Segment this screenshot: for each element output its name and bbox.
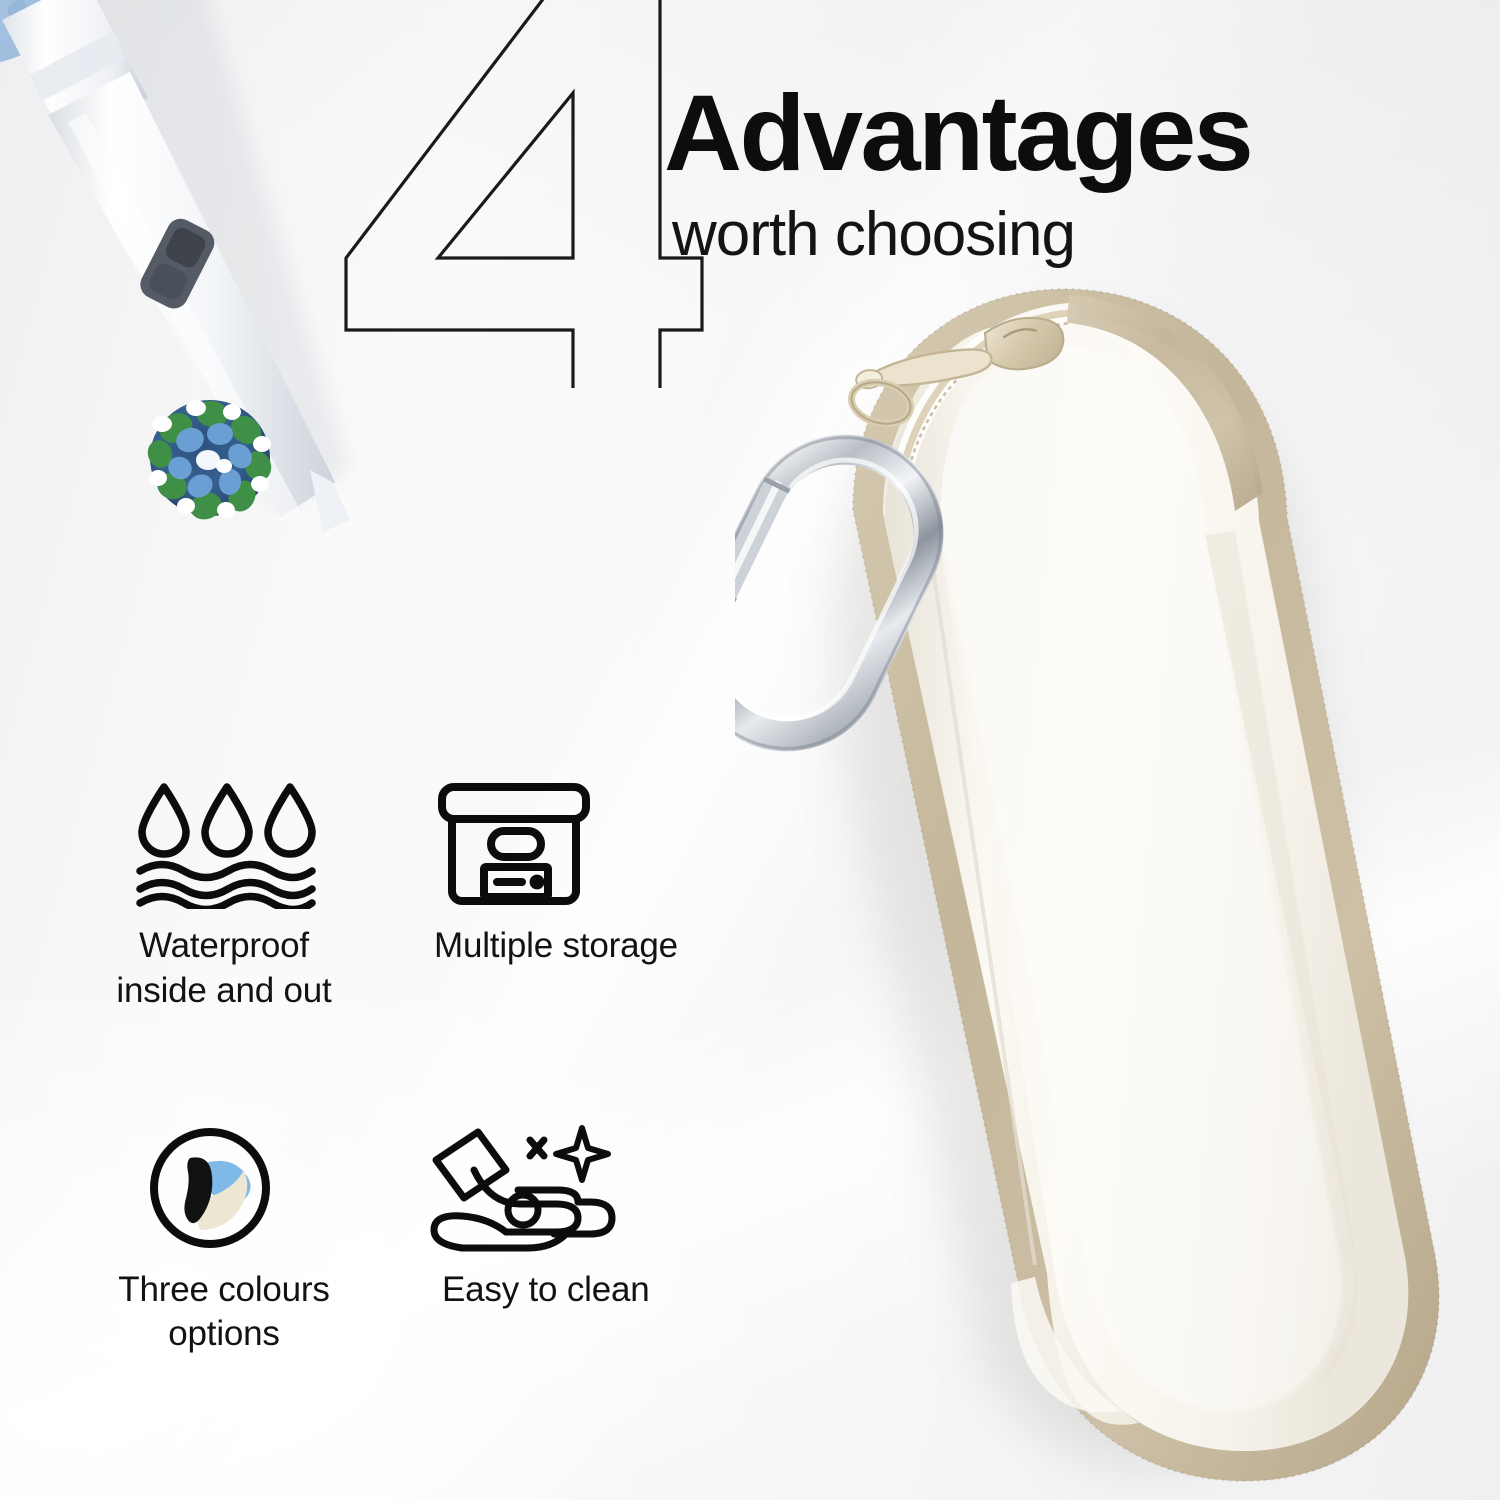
feature-item-clean: Easy to clean [422, 1122, 722, 1358]
travel-case-image [735, 255, 1495, 1500]
feature-label-line-2: options [84, 1312, 364, 1357]
water-drops-waves-icon [92, 778, 422, 910]
colour-palette-circle-icon [92, 1122, 422, 1254]
feature-item-waterproof: Waterproof inside and out [92, 778, 422, 1014]
feature-label-clean: Easy to clean [442, 1268, 722, 1313]
hand-cleaning-sparkle-icon [422, 1122, 722, 1254]
feature-label-line-1: Multiple storage [434, 924, 722, 969]
feature-label-line-1: Three colours [84, 1268, 364, 1313]
page-title: Advantages [664, 80, 1251, 186]
feature-item-colours: Three colours options [92, 1122, 422, 1358]
feature-label-storage: Multiple storage [434, 924, 722, 969]
feature-label-line-2: inside and out [84, 969, 364, 1014]
features-row-2: Three colours options [92, 1122, 732, 1358]
header-text-block: Advantages worth choosing [664, 80, 1251, 267]
feature-item-storage: Multiple storage [422, 778, 722, 1014]
features-grid: Waterproof inside and out [92, 778, 732, 1357]
feature-label-waterproof: Waterproof inside and out [84, 924, 364, 1014]
infographic-canvas: Advantages worth choosing [0, 0, 1500, 1500]
number-4-outline [330, 0, 710, 388]
feature-label-line-1: Easy to clean [442, 1268, 722, 1313]
storage-box-icon [422, 778, 722, 910]
feature-label-colours: Three colours options [84, 1268, 364, 1358]
features-row-1: Waterproof inside and out [92, 778, 732, 1014]
feature-label-line-1: Waterproof [84, 924, 364, 969]
